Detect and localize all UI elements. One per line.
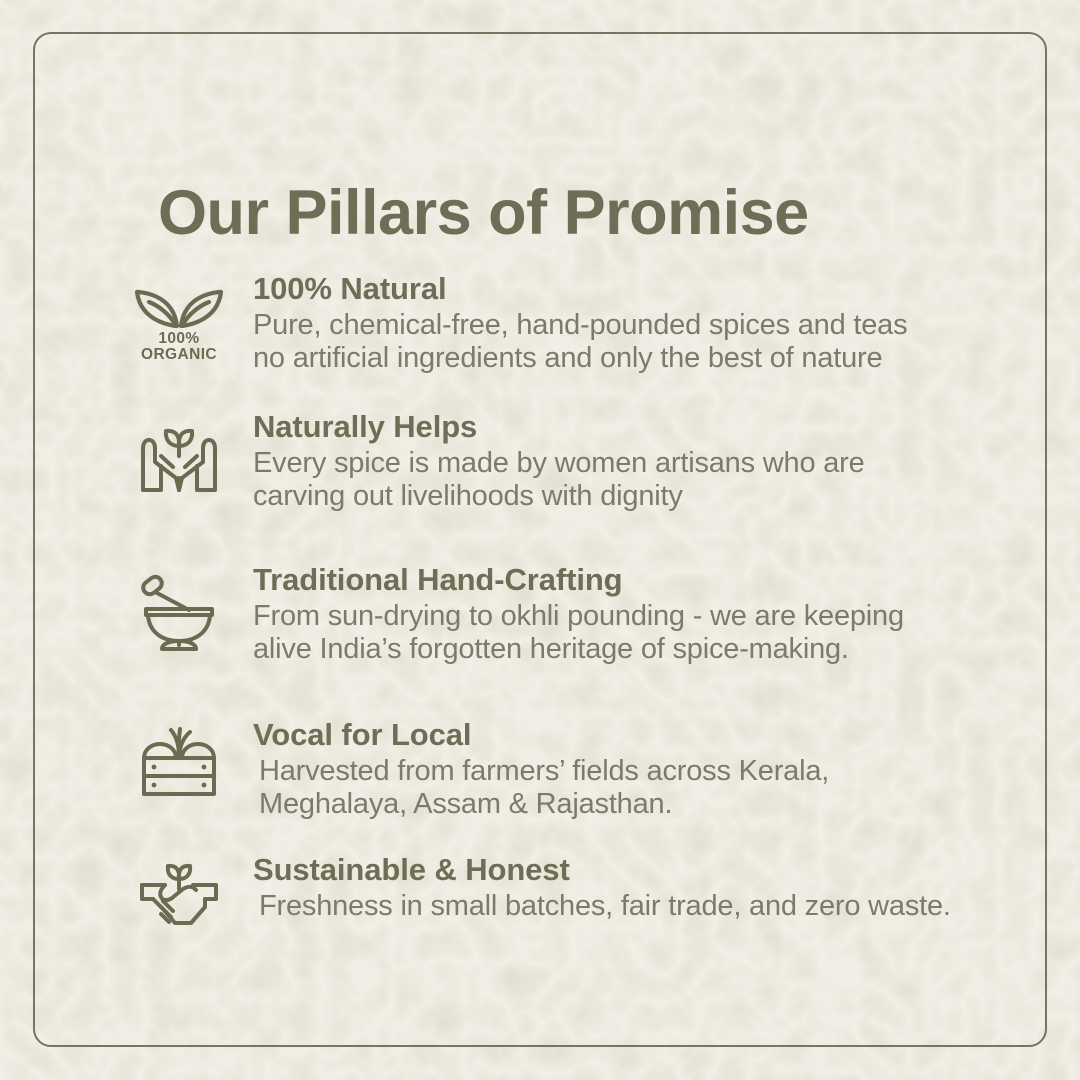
pillar-description-line: alive India’s forgotten heritage of spic… [253, 633, 1030, 667]
pillar-row: Traditional Hand-Crafting From sun-dryin… [120, 563, 1030, 667]
pillar-text-block: Naturally Helps Every spice is made by w… [238, 410, 1030, 514]
pillar-title: Vocal for Local [253, 718, 1030, 753]
pillar-title: Naturally Helps [253, 410, 1030, 445]
pillar-row: 100% ORGANIC 100% Natural Pure, chemical… [120, 272, 1030, 376]
pillar-description-line: no artificial ingredients and only the b… [253, 342, 1030, 376]
pillar-title: Sustainable & Honest [253, 853, 1030, 888]
pillar-icon-slot [120, 563, 238, 651]
pillar-description-line: Freshness in small batches, fair trade, … [259, 890, 1030, 924]
organic-badge-word: ORGANIC [133, 347, 225, 363]
pillar-text-block: Sustainable & Honest Freshness in small … [238, 853, 1030, 923]
leaf-organic-icon [133, 278, 225, 330]
pillar-description-line: Pure, chemical-free, hand-pounded spices… [253, 309, 1030, 343]
pillar-text-block: 100% Natural Pure, chemical-free, hand-p… [238, 272, 1030, 376]
pillar-icon-slot [120, 718, 238, 802]
pillar-row: Vocal for Local Harvested from farmers’ … [120, 718, 1030, 822]
handshake-sprout-icon [139, 855, 219, 931]
pillar-description: Every spice is made by women artisans wh… [253, 447, 1030, 514]
pillar-description: Harvested from farmers’ fields across Ke… [253, 755, 1030, 822]
pillar-row: Naturally Helps Every spice is made by w… [120, 410, 1030, 514]
pillar-title: 100% Natural [253, 272, 1030, 307]
pillar-icon-slot [120, 853, 238, 931]
pillar-row: Sustainable & Honest Freshness in small … [120, 853, 1030, 931]
pillar-description-line: Meghalaya, Assam & Rajasthan. [259, 788, 1030, 822]
mortar-pestle-icon [140, 573, 218, 651]
pillar-icon-slot: 100% ORGANIC [120, 272, 238, 364]
poster-canvas: Our Pillars of Promise 100% ORGANIC [0, 0, 1080, 1080]
pillar-description-line: Every spice is made by women artisans wh… [253, 447, 1030, 481]
pillar-description-line: Harvested from farmers’ fields across Ke… [259, 755, 1030, 789]
pillar-text-block: Vocal for Local Harvested from farmers’ … [238, 718, 1030, 822]
pillar-text-block: Traditional Hand-Crafting From sun-dryin… [238, 563, 1030, 667]
pillar-description-line: carving out livelihoods with dignity [253, 480, 1030, 514]
pillar-description-line: From sun-drying to okhli pounding - we a… [253, 600, 1030, 634]
pillar-icon-slot [120, 410, 238, 494]
organic-badge: 100% ORGANIC [133, 331, 225, 364]
hands-sprout-icon [140, 420, 218, 494]
organic-badge-percent: 100% [133, 331, 225, 347]
page-title: Our Pillars of Promise [158, 177, 809, 249]
produce-crate-icon [140, 724, 218, 802]
pillar-description: Freshness in small batches, fair trade, … [253, 890, 1030, 924]
pillar-title: Traditional Hand-Crafting [253, 563, 1030, 598]
pillar-description: Pure, chemical-free, hand-pounded spices… [253, 309, 1030, 376]
pillar-description: From sun-drying to okhli pounding - we a… [253, 600, 1030, 667]
